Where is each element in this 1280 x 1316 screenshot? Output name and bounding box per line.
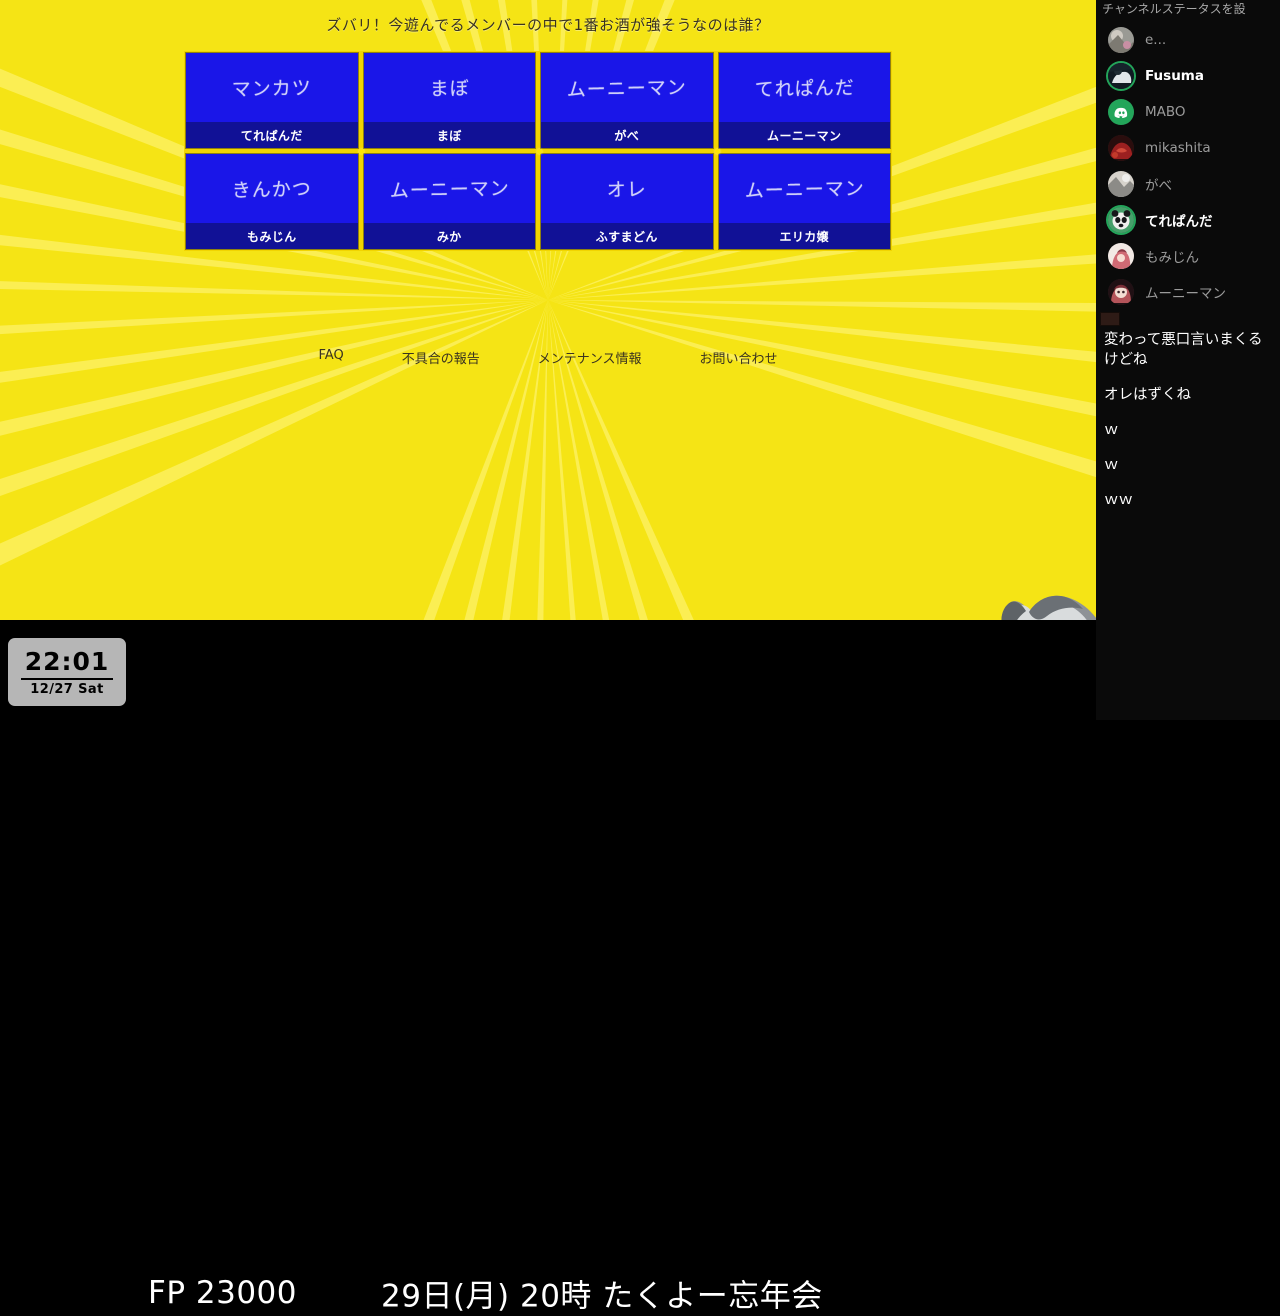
avatar — [1108, 99, 1134, 125]
chat-message: ｗ — [1096, 420, 1280, 440]
answer-card[interactable]: てれぱんだ ムーニーマン — [718, 52, 892, 149]
handwritten-answer: ムーニーマン — [540, 52, 713, 124]
chat-message: ｗ — [1096, 455, 1280, 475]
avatar — [1108, 171, 1134, 197]
player-nameplate: エリカ嬢 — [719, 223, 891, 249]
handwritten-answer: ムーニーマン — [363, 153, 536, 225]
handwritten-answer: マンカツ — [185, 52, 358, 124]
bottom-info-bar: 22:01 12/27 Sat FP 23000 29日(月) 20時 たくよー… — [0, 620, 1096, 720]
member-name: がべ — [1145, 174, 1172, 194]
player-nameplate: てれぱんだ — [186, 122, 358, 148]
player-nameplate: ふすまどん — [541, 223, 713, 249]
sidebar-header-label: チャンネルステータスを設 — [1102, 0, 1280, 18]
member-row[interactable]: Fusuma — [1096, 58, 1280, 94]
member-name: Fusuma — [1145, 68, 1204, 84]
member-row[interactable]: e... — [1096, 22, 1280, 58]
footer-links: FAQ 不具合の報告 メンテナンス情報 お問い合わせ — [0, 348, 1096, 367]
member-row[interactable]: MABO — [1096, 94, 1280, 130]
answer-card[interactable]: ムーニーマン みか — [363, 153, 537, 250]
chat-message: 変わって悪口言いまくるけどね — [1096, 330, 1280, 370]
member-name: e... — [1145, 32, 1166, 48]
chat-message: オレはずくね — [1096, 385, 1280, 405]
avatar — [1108, 135, 1134, 161]
chat-message-list: 変わって悪口言いまくるけどね オレはずくね ｗ ｗ ｗｗ — [1096, 330, 1280, 525]
handwritten-answer: てれぱんだ — [718, 52, 891, 124]
handwritten-answer: きんかつ — [185, 153, 358, 225]
clock-date: 12/27 Sat — [30, 683, 103, 696]
member-name: ムーニーマン — [1145, 282, 1226, 302]
answer-card[interactable]: ムーニーマン エリカ嬢 — [718, 153, 892, 250]
link-contact[interactable]: お問い合わせ — [699, 348, 777, 367]
announcement-text: 29日(月) 20時 たくよー忘年会 — [381, 1271, 823, 1316]
voice-member-list: e... Fusuma MABO — [1096, 22, 1280, 310]
player-nameplate: みか — [364, 223, 536, 249]
player-nameplate: まぼ — [364, 122, 536, 148]
handwritten-answer: オレ — [540, 153, 713, 225]
player-nameplate: ムーニーマン — [719, 122, 891, 148]
member-name: もみじん — [1145, 246, 1199, 266]
grid-node-dot — [715, 149, 720, 154]
answer-card[interactable]: オレ ふすまどん — [540, 153, 714, 250]
member-row[interactable]: てれぱんだ — [1096, 202, 1280, 238]
clock-widget: 22:01 12/27 Sat — [8, 638, 126, 706]
member-name: MABO — [1145, 104, 1186, 120]
answer-card[interactable]: きんかつ もみじん — [185, 153, 359, 250]
member-row[interactable]: ムーニーマン — [1096, 274, 1280, 310]
member-row[interactable]: mikashita — [1096, 130, 1280, 166]
clock-divider — [21, 678, 113, 680]
link-maintenance-info[interactable]: メンテナンス情報 — [538, 348, 642, 367]
question-text: ズバリ！今遊んでるメンバーの中で1番お酒が強そうなのは誰？ — [0, 14, 1096, 35]
stream-screen: ズバリ！今遊んでるメンバーの中で1番お酒が強そうなのは誰？ マンカツ てれぱんだ… — [0, 0, 1280, 720]
member-row[interactable]: もみじん — [1096, 238, 1280, 274]
discord-sidebar: チャンネルステータスを設 e... Fusuma — [1096, 0, 1280, 720]
handwritten-answer: まぼ — [363, 52, 536, 124]
clock-time: 22:01 — [25, 649, 110, 674]
avatar — [1108, 279, 1134, 305]
avatar — [1108, 27, 1134, 53]
stream-thumbnail[interactable] — [1100, 312, 1120, 326]
link-faq[interactable]: FAQ — [319, 348, 344, 367]
answer-card[interactable]: まぼ まぼ — [363, 52, 537, 149]
game-stage: ズバリ！今遊んでるメンバーの中で1番お酒が強そうなのは誰？ マンカツ てれぱんだ… — [0, 0, 1096, 620]
grid-node-dot — [359, 149, 364, 154]
link-bug-report[interactable]: 不具合の報告 — [402, 348, 480, 367]
answer-card[interactable]: ムーニーマン がべ — [540, 52, 714, 149]
member-name: てれぱんだ — [1145, 210, 1213, 230]
member-row[interactable]: がべ — [1096, 166, 1280, 202]
member-name: mikashita — [1145, 140, 1211, 156]
player-nameplate: がべ — [541, 122, 713, 148]
handwritten-answer: ムーニーマン — [718, 153, 891, 225]
answer-card[interactable]: マンカツ てれぱんだ — [185, 52, 359, 149]
chat-message: ｗｗ — [1096, 490, 1280, 510]
avatar — [1108, 63, 1134, 89]
fp-counter: FP 23000 — [148, 1275, 297, 1311]
player-nameplate: もみじん — [186, 223, 358, 249]
avatar — [1108, 243, 1134, 269]
avatar — [1108, 207, 1134, 233]
grid-node-dot — [537, 149, 542, 154]
